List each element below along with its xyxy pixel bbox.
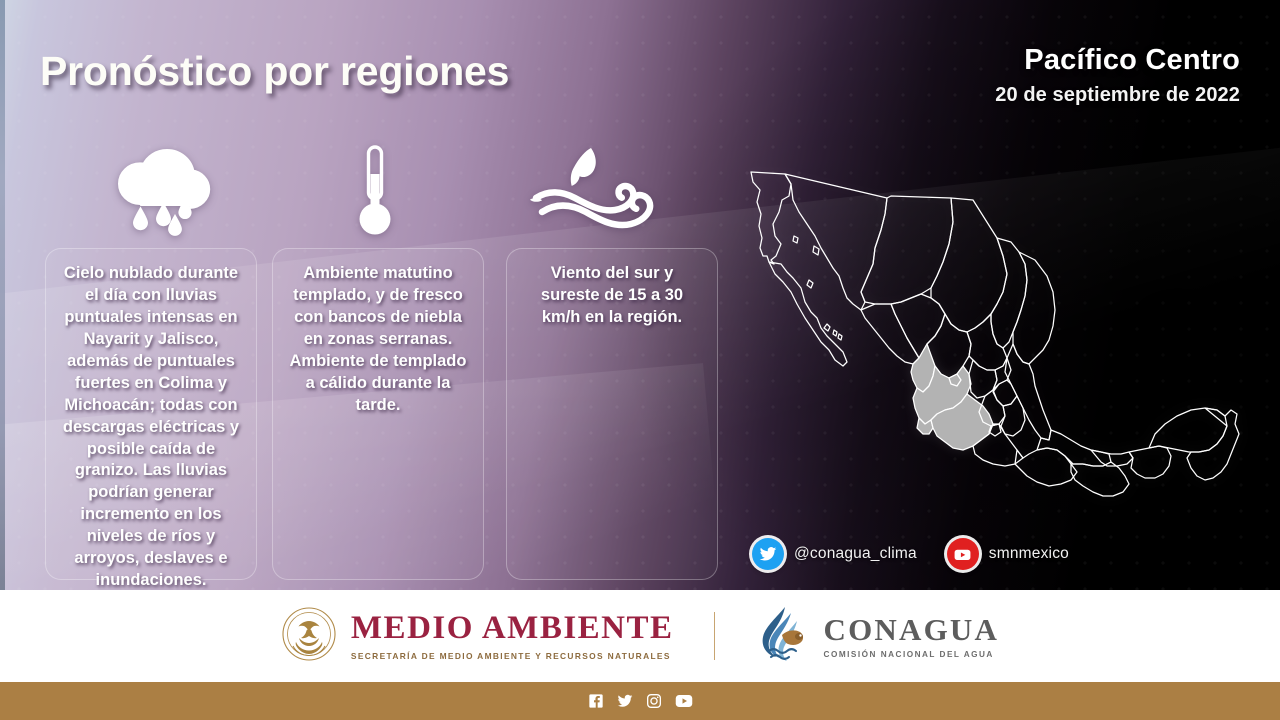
youtube-icon bbox=[947, 538, 979, 570]
forecast-card-wind: Viento del sur y sureste de 15 a 30 km/h… bbox=[506, 248, 718, 580]
handle-youtube[interactable]: smnmexico bbox=[947, 538, 1069, 570]
semarnat-subtitle: SECRETARÍA DE MEDIO AMBIENTE Y RECURSOS … bbox=[351, 651, 674, 661]
handle-twitter[interactable]: @conagua_clima bbox=[752, 538, 917, 570]
mexico-map bbox=[735, 152, 1265, 517]
page-title: Pronóstico por regiones bbox=[40, 48, 509, 95]
youtube-icon[interactable] bbox=[675, 693, 693, 709]
conagua-logo: CONAGUA COMISIÓN NACIONAL DEL AGUA bbox=[755, 605, 1000, 668]
conagua-subtitle: COMISIÓN NACIONAL DEL AGUA bbox=[824, 650, 1000, 659]
forecast-card-rain: Cielo nublado durante el día con lluvias… bbox=[45, 248, 257, 580]
forecast-card-text: Ambiente matutino templado, y de fresco … bbox=[287, 263, 469, 417]
wind-icon bbox=[528, 146, 694, 240]
infographic-slide: Pronóstico por regiones Pacífico Centro … bbox=[0, 0, 1280, 720]
conagua-eagle-water-icon bbox=[755, 605, 811, 668]
handle-label: @conagua_clima bbox=[794, 545, 917, 563]
conagua-title: CONAGUA bbox=[824, 614, 1000, 645]
thermometer-icon bbox=[352, 144, 398, 238]
handle-label: smnmexico bbox=[989, 545, 1069, 563]
forecast-card-text: Viento del sur y sureste de 15 a 30 km/h… bbox=[521, 263, 703, 329]
rain-cloud-icon bbox=[106, 142, 218, 242]
semarnat-title: MEDIO AMBIENTE bbox=[351, 612, 674, 645]
twitter-icon bbox=[752, 538, 784, 570]
twitter-icon[interactable] bbox=[617, 693, 633, 709]
facebook-icon[interactable] bbox=[588, 693, 604, 709]
forecast-card-text: Cielo nublado durante el día con lluvias… bbox=[60, 263, 242, 592]
instagram-icon[interactable] bbox=[646, 693, 662, 709]
region-name: Pacífico Centro bbox=[995, 44, 1240, 77]
mexico-coat-of-arms-icon bbox=[281, 606, 337, 667]
semarnat-logo: MEDIO AMBIENTE SECRETARÍA DE MEDIO AMBIE… bbox=[281, 606, 674, 667]
social-handles: @conagua_clima smnmexico bbox=[752, 538, 1069, 570]
footer-logos: MEDIO AMBIENTE SECRETARÍA DE MEDIO AMBIE… bbox=[0, 590, 1280, 682]
forecast-card-temperature: Ambiente matutino templado, y de fresco … bbox=[272, 248, 484, 580]
left-edge-accent bbox=[0, 0, 5, 590]
footer-divider bbox=[714, 612, 715, 660]
region-date: 20 de septiembre de 2022 bbox=[995, 84, 1240, 107]
region-header: Pacífico Centro 20 de septiembre de 2022 bbox=[995, 44, 1240, 107]
footer-social-bar bbox=[0, 682, 1280, 720]
